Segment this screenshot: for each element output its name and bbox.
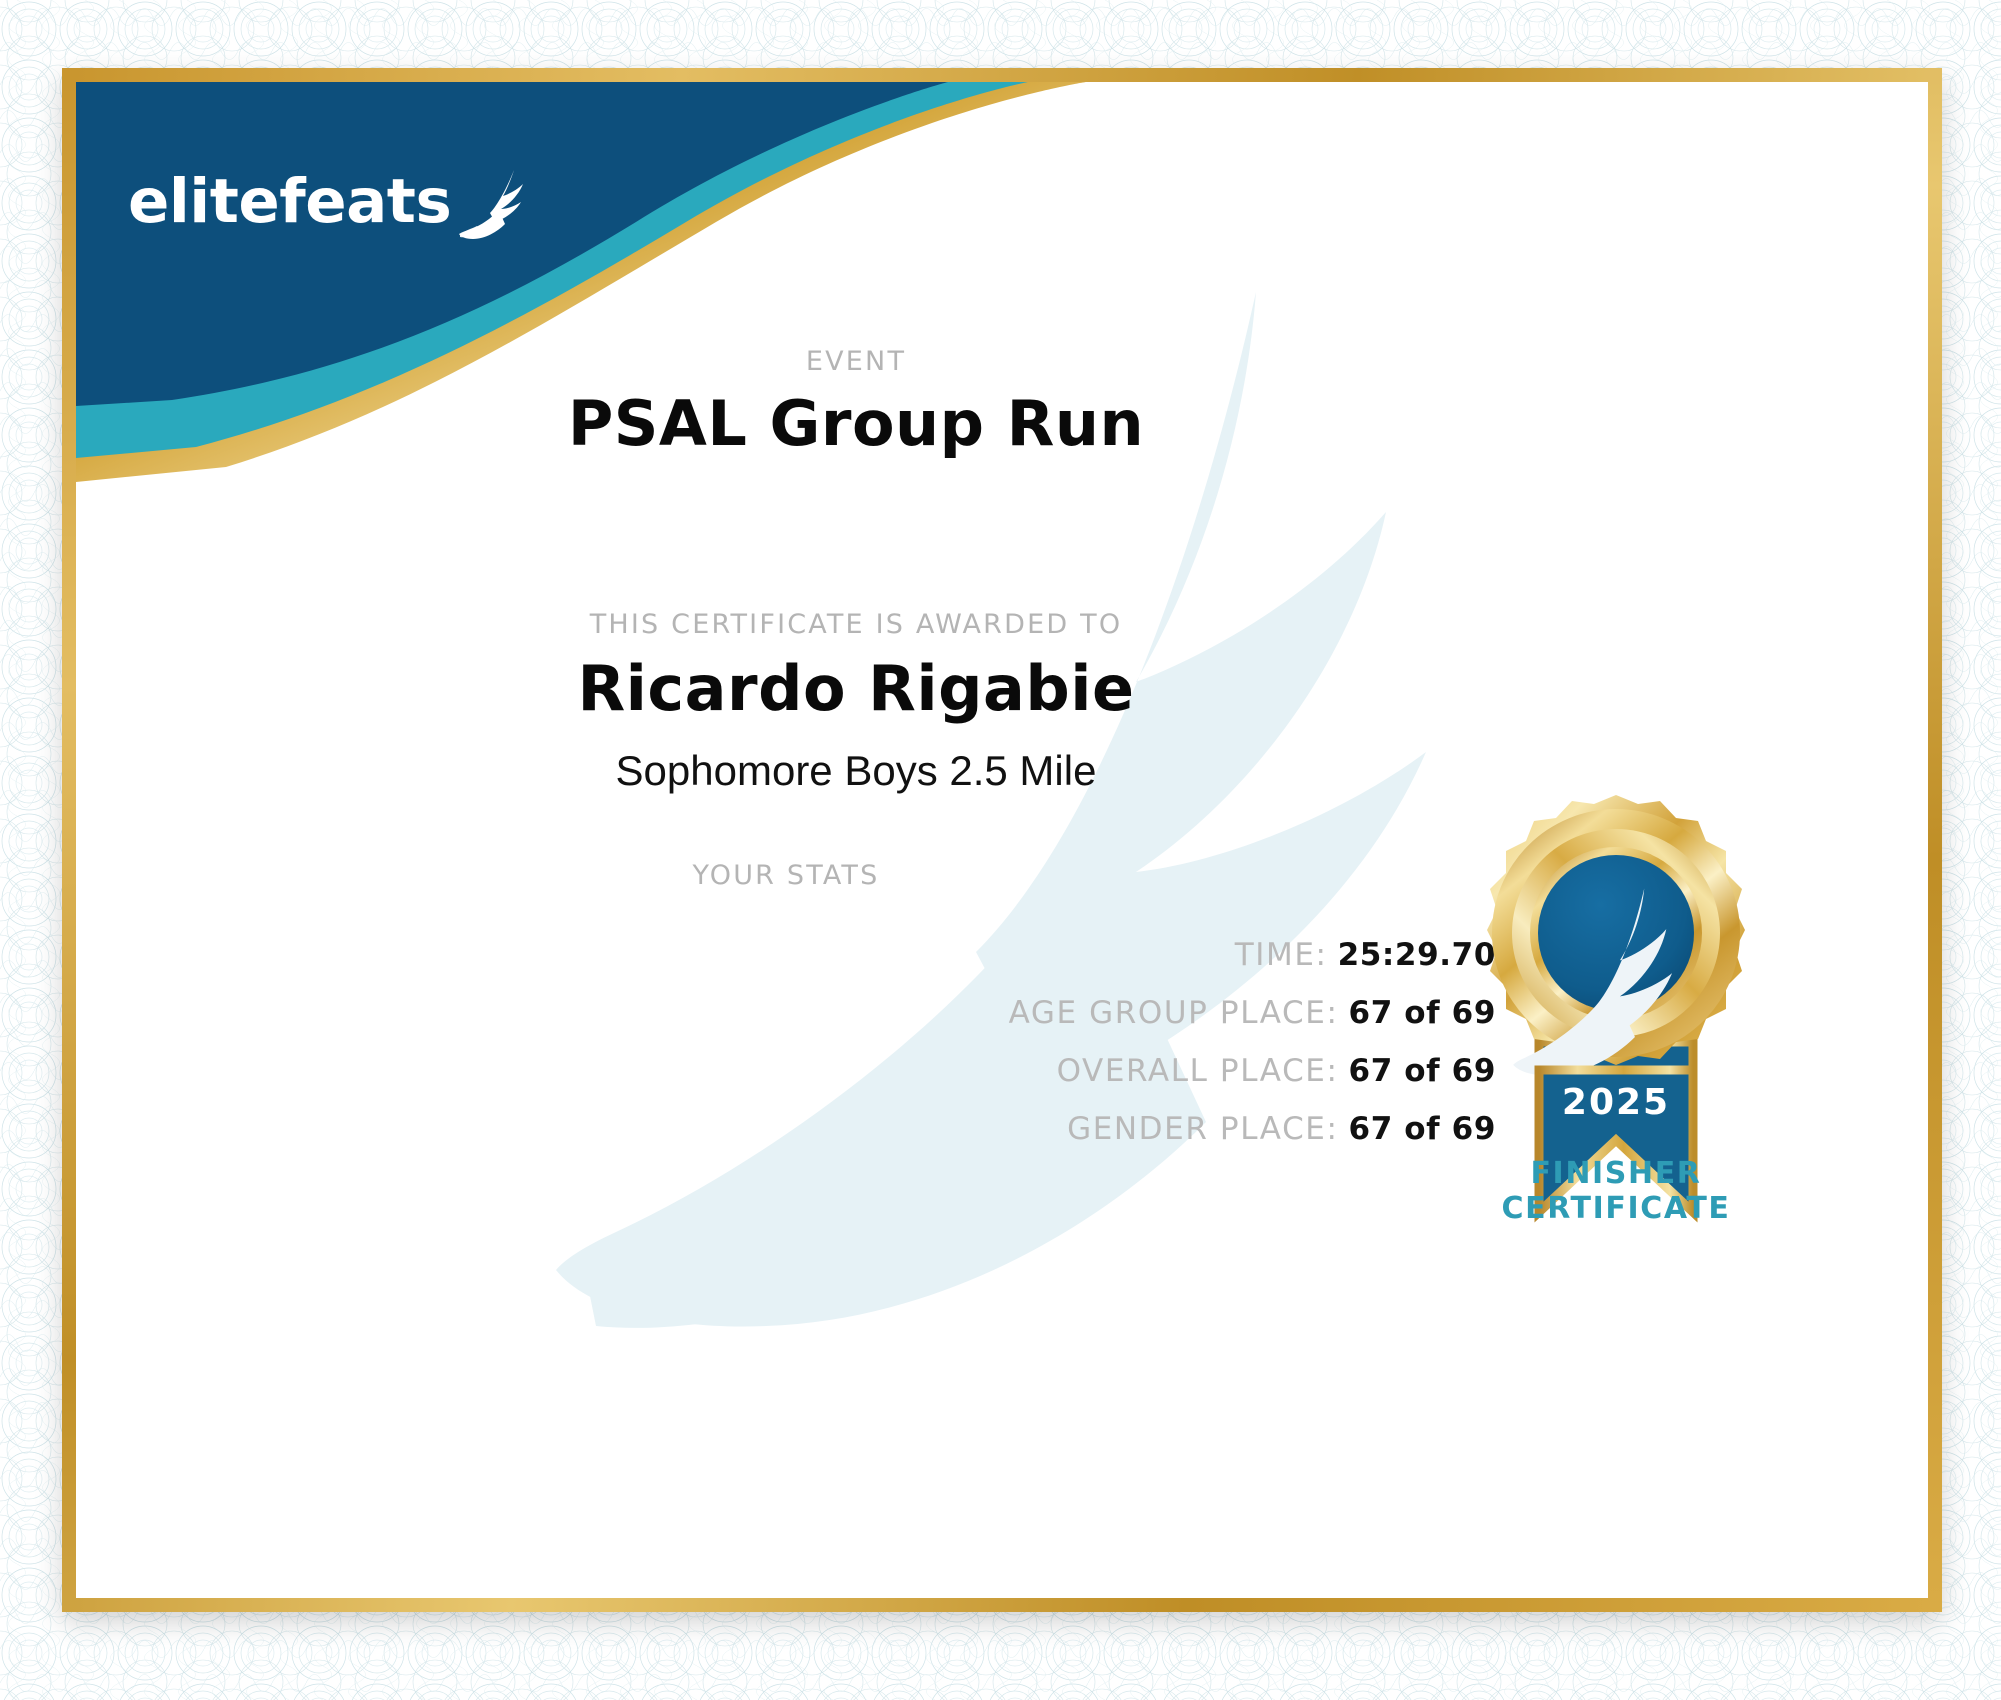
stat-row-overall-place: OVERALL PLACE:67 of 69 [76, 1053, 1496, 1089]
certificate-content: EVENT PSAL Group Run THIS CERTIFICATE IS… [76, 82, 1928, 1598]
recipient-name: Ricardo Rigabie [76, 652, 1636, 725]
certificate-body: elitefeats EVENT PSAL Group Run THIS CER… [76, 82, 1928, 1598]
stat-key: GENDER PLACE: [1067, 1111, 1338, 1147]
stat-key: TIME: [1235, 937, 1328, 973]
certificate-page: elitefeats EVENT PSAL Group Run THIS CER… [0, 0, 2001, 1700]
winged-foot-icon [457, 168, 535, 242]
event-name: PSAL Group Run [76, 387, 1636, 460]
awarded-to-label: THIS CERTIFICATE IS AWARDED TO [76, 609, 1636, 640]
event-label: EVENT [76, 346, 1636, 377]
division-name: Sophomore Boys 2.5 Mile [76, 747, 1636, 795]
medal-year: 2025 [1562, 1082, 1670, 1123]
stat-key: OVERALL PLACE: [1057, 1053, 1339, 1089]
stat-row-age-group-place: AGE GROUP PLACE:67 of 69 [76, 995, 1496, 1031]
your-stats-label: YOUR STATS [76, 860, 1496, 891]
medal-caption: FINISHER CERTIFICATE [1446, 1157, 1786, 1227]
medal-caption-line2: CERTIFICATE [1446, 1192, 1786, 1227]
brand-logo-text: elitefeats [128, 166, 451, 237]
medal-caption-line1: FINISHER [1446, 1157, 1786, 1192]
stat-row-time: TIME:25:29.70 [76, 937, 1496, 973]
stats-list: TIME:25:29.70 AGE GROUP PLACE:67 of 69 O… [76, 937, 1496, 1169]
stat-row-gender-place: GENDER PLACE:67 of 69 [76, 1111, 1496, 1147]
brand-logo: elitefeats [128, 160, 535, 242]
stat-key: AGE GROUP PLACE: [1009, 995, 1339, 1031]
